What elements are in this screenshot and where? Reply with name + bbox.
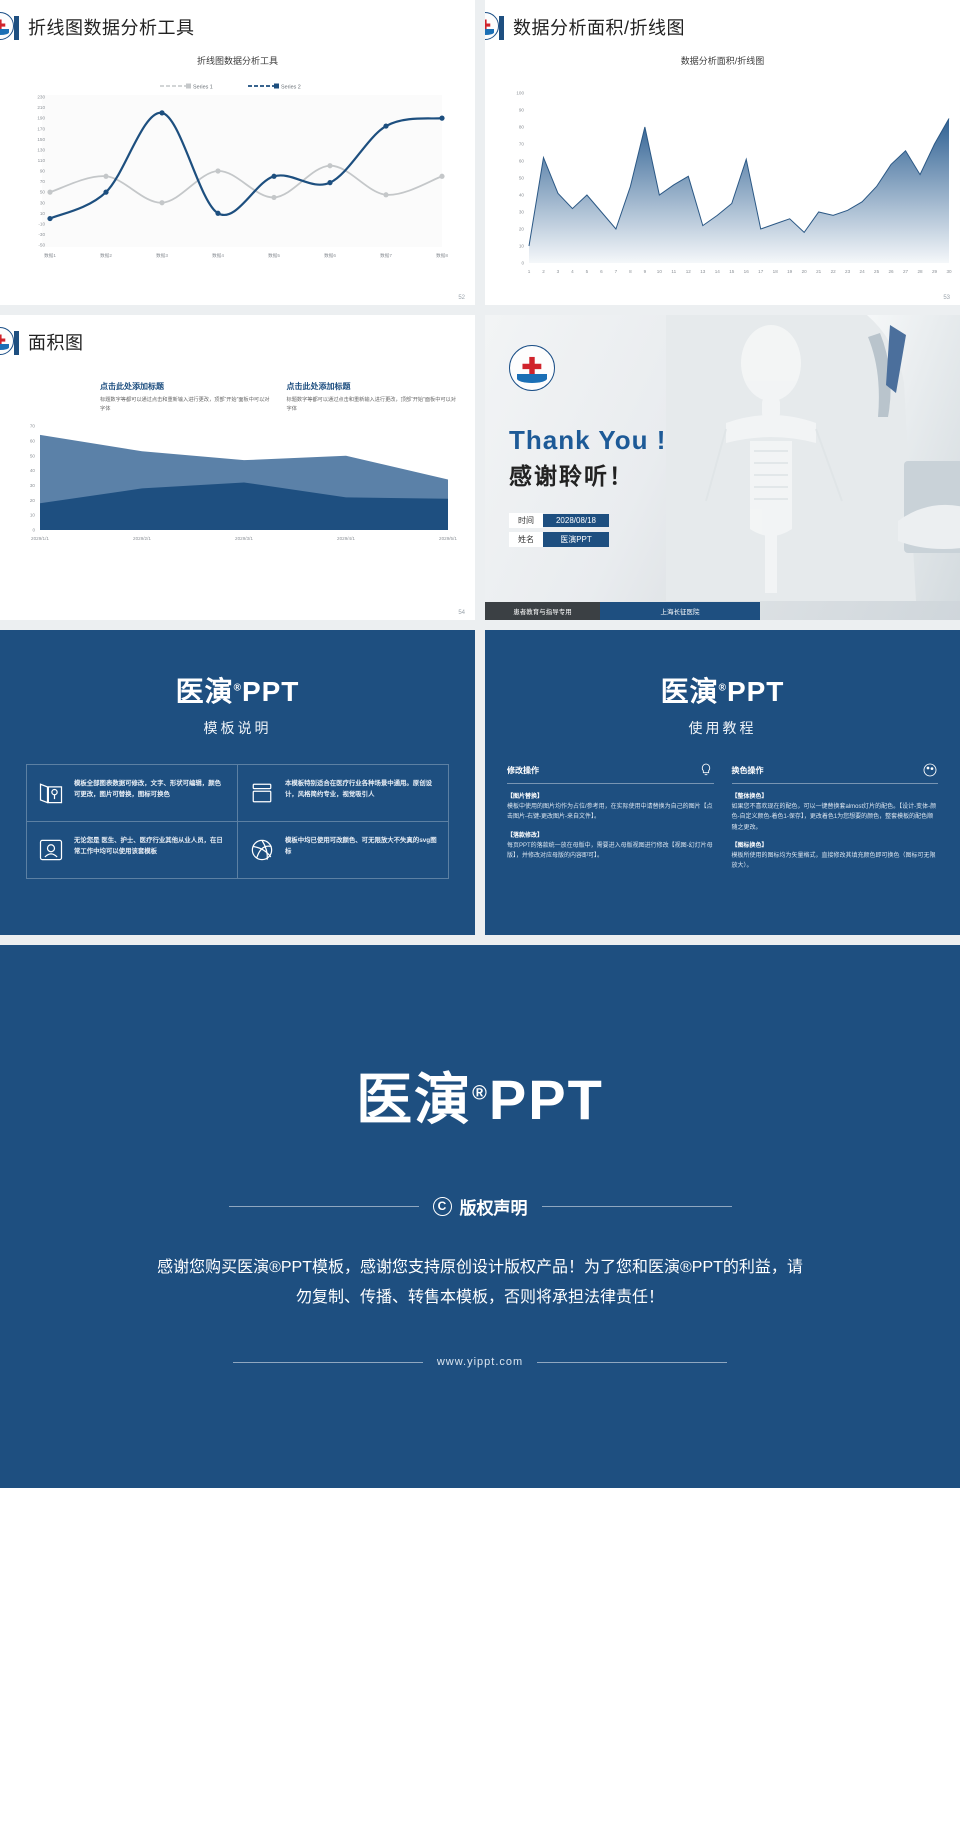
brand-block: 医演®PPT 使用教程 <box>485 630 960 738</box>
svg-text:25: 25 <box>874 269 880 274</box>
chart-title: 数据分析面积/折线图 <box>485 54 960 67</box>
svg-text:24: 24 <box>860 269 866 274</box>
slide-area-line-chart[interactable]: 数据分析面积/折线图 数据分析面积/折线图 010203040506070809… <box>485 0 960 305</box>
svg-text:2029/1/1: 2029/1/1 <box>31 536 49 541</box>
footer-spacer <box>760 602 960 620</box>
tutorial-body: 【图片替换】 模板中使用的图片均作为占位/参考用，在实际使用中请替换为自己的图片… <box>507 792 714 823</box>
date-label: 时间 <box>509 513 543 528</box>
page-title: 折线图数据分析工具 <box>28 14 195 40</box>
data-point <box>271 174 276 179</box>
slide-number: 52 <box>458 295 465 301</box>
brand-reg-mark: ® <box>234 683 242 694</box>
svg-text:60: 60 <box>519 159 525 164</box>
info-row-date: 时间2028/08/18 <box>509 512 609 530</box>
tutorial-section-title: 【图片替换】 <box>507 794 543 800</box>
slide-header: 面积图 <box>0 315 475 367</box>
feature-card[interactable]: 无论您是 医生、护士、医疗行业其他从业人员，在日常工作中均可以使用该套模板 <box>27 822 237 878</box>
data-point <box>439 116 444 121</box>
svg-text:14: 14 <box>715 269 721 274</box>
svg-text:19: 19 <box>787 269 793 274</box>
svg-text:50: 50 <box>30 454 36 459</box>
thank-you-chinese: 感谢聆听！ <box>509 457 634 491</box>
box-icon <box>248 779 276 807</box>
svg-text:110: 110 <box>38 158 46 163</box>
svg-text:2029/5/1: 2029/5/1 <box>439 536 457 541</box>
hospital-logo-icon <box>485 12 499 40</box>
svg-text:数据7: 数据7 <box>380 252 392 259</box>
series-area <box>529 119 949 264</box>
brand-ppt: PPT <box>489 1068 604 1131</box>
hospital-logo-icon <box>0 327 14 355</box>
svg-text:数据2: 数据2 <box>100 252 112 259</box>
page-title: 面积图 <box>28 329 84 355</box>
tutorial-body: 【整体换色】 如果您不喜欢现在的配色，可以一键替换套almost灯片的配色。【设… <box>732 792 939 833</box>
tutorial-heading: 修改操作 <box>507 765 539 776</box>
svg-text:21: 21 <box>816 269 822 274</box>
data-point <box>215 211 220 216</box>
brand-ppt: PPT <box>242 676 299 707</box>
svg-text:15: 15 <box>729 269 735 274</box>
svg-text:130: 130 <box>37 147 45 152</box>
data-point <box>383 192 388 197</box>
svg-text:30: 30 <box>40 200 46 205</box>
svg-text:-50: -50 <box>38 243 45 248</box>
divider-left <box>229 1206 419 1207</box>
svg-text:12: 12 <box>686 269 692 274</box>
tutorial-heading-row: 修改操作 <box>507 762 714 784</box>
tutorial-columns: 修改操作 【图片替换】 模板中使用的图片均作为占位/参考用，在实际使用中请替换为… <box>507 762 938 871</box>
svg-text:7: 7 <box>615 269 618 274</box>
presentation-page: 折线图数据分析工具 折线图数据分析工具 Series 1 Series 2 <box>0 0 960 1488</box>
data-point <box>215 168 220 173</box>
stacked-area-svg: 010203040506070 2029/1/12029/2/12029/3/1… <box>0 412 475 562</box>
svg-text:3: 3 <box>557 269 560 274</box>
svg-text:数据8: 数据8 <box>436 252 448 259</box>
svg-text:17: 17 <box>758 269 764 274</box>
card-row-top: 模板全部图表数据可修改，文字、形状可编辑，颜色可更改，图片可替换，图标可换色 本… <box>26 764 449 822</box>
data-point <box>327 163 332 168</box>
svg-text:70: 70 <box>40 179 46 184</box>
svg-text:20: 20 <box>802 269 808 274</box>
copyright-brand-logo: 医演®PPT <box>0 1055 960 1136</box>
svg-text:30: 30 <box>946 269 952 274</box>
title-accent-bar <box>14 16 19 40</box>
slide-copyright[interactable]: 医演®PPT C 版权声明 感谢您购买医演®PPT模板，感谢您支持原创设计版权产… <box>0 945 960 1488</box>
data-point <box>383 123 388 128</box>
svg-text:28: 28 <box>917 269 923 274</box>
svg-text:70: 70 <box>30 424 36 429</box>
x-axis-ticks: 2029/1/12029/2/12029/3/12029/4/12029/5/1 <box>31 536 457 541</box>
svg-text:18: 18 <box>773 269 779 274</box>
doctor-skeleton-illustration <box>666 315 960 601</box>
svg-text:6: 6 <box>600 269 603 274</box>
svg-text:50: 50 <box>40 190 46 195</box>
feature-card[interactable]: 模板中均已使用可改颜色、可无限放大不失真的svg图标 <box>237 822 448 878</box>
brand-logo-text: 医演®PPT <box>0 670 475 710</box>
svg-text:90: 90 <box>519 108 525 113</box>
svg-text:80: 80 <box>519 125 525 130</box>
feature-card-text: 无论您是 医生、护士、医疗行业其他从业人员，在日常工作中均可以使用该套模板 <box>74 836 227 864</box>
slide-row-3: 医演®PPT 模板说明 模板全部图表数据可修改，文字、形状可编辑，颜色可更改，图… <box>0 630 960 945</box>
slide-row-2: 面积图 点击此处添加标题 标题数字等都可以通过点击和重新输入进行更改，顶部“开始… <box>0 315 960 630</box>
dribbble-icon <box>248 836 276 864</box>
tutorial-body: 【落款修改】 每页PPT的落款统一放在母版中，需要进入母版视图进行修改【视图-幻… <box>507 831 714 862</box>
tutorial-section-body: 如果您不喜欢现在的配色，可以一键替换套almost灯片的配色。【设计-变体-颜色… <box>732 804 937 830</box>
svg-text:1: 1 <box>528 269 531 274</box>
tutorial-section-body: 每页PPT的落款统一放在母版中，需要进入母版视图进行修改【视图-幻灯片母版】，并… <box>507 843 713 859</box>
svg-text:0: 0 <box>521 261 524 266</box>
y-axis-ticks: -50-30-101030507090110130150170190210230 <box>37 95 45 248</box>
title-accent-bar <box>14 331 19 355</box>
area-chart-svg: 0102030405060708090100 12345678910111213… <box>485 67 960 292</box>
svg-text:数据1: 数据1 <box>44 252 56 259</box>
card-row-bottom: 无论您是 医生、护士、医疗行业其他从业人员，在日常工作中均可以使用该套模板 模板… <box>26 822 449 879</box>
svg-text:20: 20 <box>519 227 525 232</box>
svg-text:30: 30 <box>519 210 525 215</box>
divider-right-2 <box>537 1362 727 1363</box>
brand-cn: 医演 <box>176 676 234 707</box>
website-url[interactable]: www.yippt.com <box>437 1356 523 1368</box>
tutorial-column-color: 换色操作 【整体换色】 如果您不喜欢现在的配色，可以一键替换套almost灯片的… <box>732 762 939 871</box>
x-axis-ticks: 数据1数据2数据3数据4数据5数据6数据7数据8 <box>44 252 448 259</box>
tutorial-heading-row: 换色操作 <box>732 762 939 784</box>
brand-cn: 医演 <box>356 1068 472 1131</box>
slide-number: 53 <box>943 295 950 301</box>
svg-text:210: 210 <box>37 105 45 110</box>
brand-subtitle: 使用教程 <box>485 718 960 738</box>
svg-text:30: 30 <box>30 483 36 488</box>
brand-reg-mark: ® <box>719 683 727 694</box>
svg-text:10: 10 <box>40 211 46 216</box>
footer-left-text: 患者教育与指导专用 <box>485 602 600 620</box>
legend-label-2: Series 2 <box>281 85 301 91</box>
legend-label-1: Series 1 <box>193 85 213 91</box>
feature-card-text: 模板中均已使用可改颜色、可无限放大不失真的svg图标 <box>285 836 438 864</box>
svg-text:-30: -30 <box>38 232 45 237</box>
svg-text:10: 10 <box>657 269 663 274</box>
y-axis-ticks: 010203040506070 <box>30 424 36 533</box>
svg-text:60: 60 <box>30 439 36 444</box>
data-point <box>47 216 52 221</box>
y-axis-ticks: 0102030405060708090100 <box>516 91 524 266</box>
svg-text:9: 9 <box>644 269 647 274</box>
brand-block: 医演®PPT 模板说明 <box>0 630 475 738</box>
data-point <box>159 110 164 115</box>
svg-text:150: 150 <box>37 137 45 142</box>
annotation-heading: 点击此处添加标题 <box>100 381 273 392</box>
data-point <box>439 174 444 179</box>
svg-text:170: 170 <box>37 126 45 131</box>
brand-cn: 医演 <box>661 676 719 707</box>
svg-text:100: 100 <box>516 91 524 96</box>
svg-text:-10: -10 <box>38 221 45 226</box>
feature-card[interactable]: 本模板特别适合在医疗行业各种场景中通用。原创设计，风格简约专业，视觉吸引人 <box>237 765 448 821</box>
name-value: 医演PPT <box>543 532 609 547</box>
copyright-declaration-row: C 版权声明 <box>0 1194 960 1219</box>
svg-text:数据5: 数据5 <box>268 252 280 259</box>
svg-text:数据4: 数据4 <box>212 252 224 259</box>
tutorial-heading: 换色操作 <box>732 765 764 776</box>
annotation-block: 点击此处添加标题 标题数字等都可以通过点击和重新输入进行更改，顶部“开始”面板中… <box>287 381 460 414</box>
area-chart-container[interactable]: 数据分析面积/折线图 0102030405060708090100 123456… <box>485 54 960 305</box>
svg-text:10: 10 <box>30 513 36 518</box>
brand-ppt: PPT <box>727 676 784 707</box>
copyright-footer-row: www.yippt.com <box>0 1356 960 1368</box>
svg-text:10: 10 <box>519 244 525 249</box>
feature-card[interactable]: 模板全部图表数据可修改，文字、形状可编辑，颜色可更改，图片可替换，图标可换色 <box>27 765 237 821</box>
tutorial-section-title: 【图标换色】 <box>732 843 768 849</box>
svg-text:2029/2/1: 2029/2/1 <box>133 536 151 541</box>
slide-thank-you[interactable]: Thank You ! 感谢聆听！ 时间2028/08/18 姓名医演PPT 患… <box>485 315 960 620</box>
slide-footer-bar: 患者教育与指导专用 上海长征医院 <box>485 602 960 620</box>
slide-stacked-area[interactable]: 面积图 点击此处添加标题 标题数字等都可以通过点击和重新输入进行更改，顶部“开始… <box>0 315 475 620</box>
line-chart-container[interactable]: 折线图数据分析工具 Series 1 Series 2 -50-30-10103… <box>0 54 475 305</box>
svg-text:2: 2 <box>542 269 545 274</box>
annotation-heading: 点击此处添加标题 <box>287 381 460 392</box>
svg-text:27: 27 <box>903 269 909 274</box>
svg-text:20: 20 <box>30 498 36 503</box>
palette-icon <box>922 762 938 778</box>
data-point <box>159 200 164 205</box>
svg-text:16: 16 <box>744 269 750 274</box>
copyright-paragraph: 感谢您购买医演®PPT模板，感谢您支持原创设计版权产品！为了您和医演®PPT的利… <box>0 1253 960 1312</box>
svg-text:26: 26 <box>889 269 895 274</box>
title-accent-bar <box>499 16 504 40</box>
plot-area <box>42 95 442 247</box>
date-value: 2028/08/18 <box>543 514 609 527</box>
tutorial-section-title: 【落款修改】 <box>507 833 543 839</box>
svg-text:70: 70 <box>519 142 525 147</box>
hospital-logo-icon <box>0 12 14 40</box>
svg-text:29: 29 <box>932 269 938 274</box>
copyright-icon: C <box>433 1197 452 1216</box>
brand-subtitle: 模板说明 <box>0 718 475 738</box>
data-point <box>103 190 108 195</box>
divider-right <box>542 1206 732 1207</box>
copyright-declaration: C 版权声明 <box>433 1194 528 1219</box>
slide-row-1: 折线图数据分析工具 折线图数据分析工具 Series 1 Series 2 <box>0 0 960 315</box>
svg-text:5: 5 <box>586 269 589 274</box>
line-chart-svg: Series 1 Series 2 -50-30-101030507090110… <box>0 67 475 292</box>
svg-text:22: 22 <box>831 269 837 274</box>
book-icon <box>37 779 65 807</box>
svg-text:90: 90 <box>40 169 46 174</box>
name-label: 姓名 <box>509 532 543 547</box>
svg-text:数据6: 数据6 <box>324 252 336 259</box>
annotation-blocks: 点击此处添加标题 标题数字等都可以通过点击和重新输入进行更改，顶部“开始”面板中… <box>0 367 475 414</box>
info-row-name: 姓名医演PPT <box>509 531 609 549</box>
page-title: 数据分析面积/折线图 <box>513 14 685 40</box>
svg-text:8: 8 <box>629 269 632 274</box>
svg-text:4: 4 <box>571 269 574 274</box>
data-point <box>47 190 52 195</box>
slide-tutorial[interactable]: 医演®PPT 使用教程 修改操作 【图片替换】 模板中使用的图片均作为占位/参考… <box>485 630 960 935</box>
svg-text:2029/3/1: 2029/3/1 <box>235 536 253 541</box>
x-axis-ticks: 1234567891011121314151617181920212223242… <box>528 269 952 274</box>
data-point <box>327 180 332 185</box>
feature-card-text: 模板全部图表数据可修改，文字、形状可编辑，颜色可更改，图片可替换，图标可换色 <box>74 779 227 807</box>
svg-text:2029/4/1: 2029/4/1 <box>337 536 355 541</box>
user-icon <box>37 836 65 864</box>
svg-text:11: 11 <box>671 269 676 274</box>
bulb-icon <box>698 762 714 778</box>
svg-text:13: 13 <box>700 269 706 274</box>
tutorial-section-title: 【整体换色】 <box>732 794 768 800</box>
stacked-area-container[interactable]: 点击此处添加标题 标题数字等都可以通过点击和重新输入进行更改，顶部“开始”面板中… <box>0 367 475 620</box>
svg-text:40: 40 <box>519 193 525 198</box>
declaration-label: 版权声明 <box>460 1194 528 1219</box>
svg-text:0: 0 <box>32 528 35 533</box>
slide-line-chart[interactable]: 折线图数据分析工具 折线图数据分析工具 Series 1 Series 2 <box>0 0 475 305</box>
feature-card-text: 本模板特别适合在医疗行业各种场景中通用。原创设计，风格简约专业，视觉吸引人 <box>285 779 438 807</box>
svg-text:230: 230 <box>37 95 45 100</box>
chart-title: 折线图数据分析工具 <box>0 54 475 67</box>
svg-text:40: 40 <box>30 468 36 473</box>
tutorial-section-body: 模板所使用的图标均为矢量格式，直接修改其填充颜色即可换色（图标可无限放大）。 <box>732 853 936 869</box>
svg-text:50: 50 <box>519 176 525 181</box>
footer-right-text: 上海长征医院 <box>600 602 760 620</box>
svg-text:190: 190 <box>37 116 45 121</box>
tutorial-body: 【图标换色】 模板所使用的图标均为矢量格式，直接修改其填充颜色即可换色（图标可无… <box>732 841 939 872</box>
slide-header: 数据分析面积/折线图 <box>485 0 960 52</box>
slide-number: 54 <box>458 610 465 616</box>
svg-text:数据3: 数据3 <box>156 252 168 259</box>
annotation-block: 点击此处添加标题 标题数字等都可以通过点击和重新输入进行更改，顶部“开始”面板中… <box>100 381 273 414</box>
hospital-logo-icon <box>509 345 555 391</box>
slide-header: 折线图数据分析工具 <box>0 0 475 52</box>
slide-template-description[interactable]: 医演®PPT 模板说明 模板全部图表数据可修改，文字、形状可编辑，颜色可更改，图… <box>0 630 475 935</box>
data-point <box>271 195 276 200</box>
brand-logo-text: 医演®PPT <box>485 670 960 710</box>
tutorial-column-edit: 修改操作 【图片替换】 模板中使用的图片均作为占位/参考用，在实际使用中请替换为… <box>507 762 714 871</box>
data-point <box>103 174 108 179</box>
brand-reg-mark: ® <box>472 1082 489 1104</box>
divider-left-2 <box>233 1362 423 1363</box>
svg-text:23: 23 <box>845 269 851 274</box>
chart-legend: Series 1 Series 2 <box>160 84 301 91</box>
thank-you-english: Thank You ! <box>509 425 666 456</box>
tutorial-section-body: 模板中使用的图片均作为占位/参考用，在实际使用中请替换为自己的图片【点击图片-右… <box>507 804 713 820</box>
